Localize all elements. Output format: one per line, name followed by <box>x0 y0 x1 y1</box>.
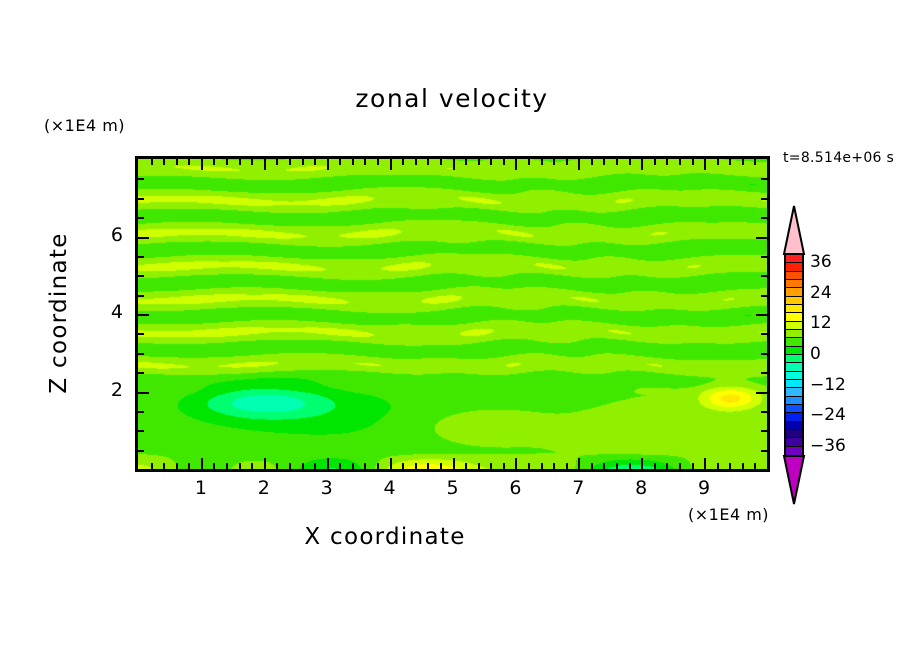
axis-tick <box>754 159 756 165</box>
axis-tick <box>239 159 241 165</box>
axis-tick <box>138 411 144 413</box>
colorbar-band <box>786 447 802 455</box>
colorbar-band <box>786 305 802 313</box>
axis-tick <box>327 458 329 469</box>
colorbar-tick-label: 0 <box>810 344 821 364</box>
axis-tick <box>276 463 278 469</box>
axis-tick <box>176 159 178 165</box>
colorbar-band <box>786 405 802 413</box>
y-tick-label: 4 <box>83 301 123 323</box>
axis-tick <box>756 392 767 394</box>
axis-tick <box>541 463 543 469</box>
axis-tick <box>201 159 203 170</box>
axis-tick <box>591 159 593 165</box>
axis-tick <box>679 159 681 165</box>
axis-tick <box>616 159 618 165</box>
axis-tick <box>761 430 767 432</box>
x-tick-label: 8 <box>621 477 661 499</box>
colorbar <box>780 205 808 505</box>
colorbar-band <box>786 413 802 421</box>
axis-tick <box>761 353 767 355</box>
axis-tick <box>314 463 316 469</box>
axis-tick <box>276 159 278 165</box>
axis-tick <box>761 450 767 452</box>
axis-tick <box>377 463 379 469</box>
axis-tick <box>761 333 767 335</box>
axis-tick <box>616 463 618 469</box>
colorbar-band <box>786 322 802 330</box>
axis-tick <box>704 159 706 170</box>
axis-tick <box>339 463 341 469</box>
y-axis-unit-label: (×1E4 m) <box>44 116 125 135</box>
axis-tick <box>138 430 144 432</box>
axis-tick <box>761 178 767 180</box>
axis-tick <box>553 159 555 165</box>
colorbar-band <box>786 388 802 396</box>
axis-tick <box>402 463 404 469</box>
colorbar-band <box>786 330 802 338</box>
axis-tick <box>761 198 767 200</box>
axis-tick <box>666 463 668 469</box>
axis-tick <box>352 463 354 469</box>
axis-tick <box>717 159 719 165</box>
axis-tick <box>742 463 744 469</box>
axis-tick <box>138 275 144 277</box>
colorbar-band <box>786 272 802 280</box>
colorbar-under-arrow-icon <box>780 455 808 505</box>
axis-tick <box>327 159 329 170</box>
axis-tick <box>138 314 149 316</box>
colorbar-band <box>786 347 802 355</box>
axis-tick <box>666 159 668 165</box>
colorbar-bands <box>784 253 804 457</box>
axis-tick <box>761 275 767 277</box>
axis-tick <box>226 159 228 165</box>
axis-tick <box>188 463 190 469</box>
axis-tick <box>138 256 144 258</box>
x-axis-title: X coordinate <box>0 524 770 550</box>
colorbar-band <box>786 263 802 271</box>
axis-tick <box>578 159 580 170</box>
y-tick-label: 6 <box>83 224 123 246</box>
axis-tick <box>654 463 656 469</box>
axis-tick <box>629 463 631 469</box>
colorbar-band <box>786 313 802 321</box>
x-tick-label: 9 <box>684 477 724 499</box>
axis-tick <box>440 159 442 165</box>
axis-tick <box>440 463 442 469</box>
axis-tick <box>201 458 203 469</box>
axis-tick <box>453 458 455 469</box>
axis-tick <box>289 159 291 165</box>
axis-tick <box>528 463 530 469</box>
x-tick-label: 5 <box>433 477 473 499</box>
axis-tick <box>138 450 144 452</box>
axis-tick <box>176 463 178 469</box>
axis-tick <box>264 458 266 469</box>
axis-tick <box>692 159 694 165</box>
axis-tick <box>566 159 568 165</box>
colorbar-band <box>786 422 802 430</box>
x-tick-label: 6 <box>495 477 535 499</box>
axis-tick <box>761 372 767 374</box>
colorbar-band <box>786 355 802 363</box>
axis-tick <box>729 463 731 469</box>
colorbar-tick-label: 12 <box>810 313 832 333</box>
axis-tick <box>151 159 153 165</box>
axis-tick <box>553 463 555 469</box>
x-tick-label: 1 <box>181 477 221 499</box>
axis-tick <box>729 159 731 165</box>
axis-tick <box>289 463 291 469</box>
axis-tick <box>138 333 144 335</box>
axis-tick <box>251 463 253 469</box>
axis-tick <box>390 458 392 469</box>
axis-tick <box>641 458 643 469</box>
axis-tick <box>478 159 480 165</box>
axis-tick <box>490 463 492 469</box>
axis-tick <box>364 159 366 165</box>
axis-tick <box>453 159 455 170</box>
axis-tick <box>566 463 568 469</box>
axis-tick <box>578 458 580 469</box>
colorbar-over-arrow-icon <box>780 205 808 255</box>
axis-tick <box>188 159 190 165</box>
colorbar-band <box>786 255 802 263</box>
y-tick-label: 2 <box>83 379 123 401</box>
axis-tick <box>515 159 517 170</box>
axis-tick <box>163 463 165 469</box>
axis-tick <box>239 463 241 469</box>
axis-tick <box>302 463 304 469</box>
axis-tick <box>213 159 215 165</box>
axis-tick <box>679 463 681 469</box>
axis-tick <box>465 463 467 469</box>
axis-tick <box>151 463 153 469</box>
x-tick-label: 7 <box>558 477 598 499</box>
axis-tick <box>302 159 304 165</box>
colorbar-band <box>786 338 802 346</box>
axis-tick <box>138 295 144 297</box>
axis-tick <box>603 159 605 165</box>
x-tick-label: 3 <box>307 477 347 499</box>
axis-tick <box>163 159 165 165</box>
axis-tick <box>641 159 643 170</box>
contour-field <box>138 159 767 469</box>
axis-tick <box>591 463 593 469</box>
colorbar-band <box>786 280 802 288</box>
axis-tick <box>427 159 429 165</box>
axis-tick <box>377 159 379 165</box>
colorbar-band <box>786 297 802 305</box>
colorbar-tick-label: −36 <box>810 436 846 456</box>
axis-tick <box>490 159 492 165</box>
axis-tick <box>528 159 530 165</box>
timestamp-label: t=8.514e+06 s <box>783 150 894 166</box>
axis-tick <box>427 463 429 469</box>
axis-tick <box>629 159 631 165</box>
colorbar-band <box>786 438 802 446</box>
axis-tick <box>402 159 404 165</box>
axis-tick <box>364 463 366 469</box>
colorbar-tick-label: −12 <box>810 375 846 395</box>
axis-tick <box>465 159 467 165</box>
colorbar-band <box>786 288 802 296</box>
x-tick-label: 4 <box>370 477 410 499</box>
colorbar-band <box>786 380 802 388</box>
x-axis-unit-label: (×1E4 m) <box>688 505 769 524</box>
axis-tick <box>515 458 517 469</box>
colorbar-band <box>786 372 802 380</box>
axis-tick <box>761 295 767 297</box>
axis-tick <box>761 256 767 258</box>
axis-tick <box>754 463 756 469</box>
axis-tick <box>478 463 480 469</box>
colorbar-tick-label: −24 <box>810 405 846 425</box>
axis-tick <box>742 159 744 165</box>
figure-canvas: zonal velocity (×1E4 m) (×1E4 m) t=8.514… <box>0 0 904 654</box>
page-title: zonal velocity <box>0 84 904 113</box>
axis-tick <box>717 463 719 469</box>
axis-tick <box>692 463 694 469</box>
axis-tick <box>761 411 767 413</box>
axis-tick <box>226 463 228 469</box>
axis-tick <box>390 159 392 170</box>
x-tick-label: 2 <box>244 477 284 499</box>
colorbar-band <box>786 363 802 371</box>
axis-tick <box>251 159 253 165</box>
axis-tick <box>541 159 543 165</box>
axis-tick <box>339 159 341 165</box>
axis-tick <box>138 237 149 239</box>
axis-tick <box>603 463 605 469</box>
colorbar-tick-label: 36 <box>810 252 832 272</box>
axis-tick <box>761 217 767 219</box>
axis-tick <box>264 159 266 170</box>
axis-tick <box>138 178 144 180</box>
colorbar-band <box>786 430 802 438</box>
axis-tick <box>503 159 505 165</box>
y-axis-title: Z coordinate <box>46 223 72 403</box>
contour-plot-area <box>135 156 770 472</box>
axis-tick <box>138 372 144 374</box>
axis-tick <box>138 353 144 355</box>
axis-tick <box>213 463 215 469</box>
axis-tick <box>314 159 316 165</box>
axis-tick <box>704 458 706 469</box>
colorbar-tick-label: 24 <box>810 283 832 303</box>
axis-tick <box>415 463 417 469</box>
colorbar-band <box>786 397 802 405</box>
axis-tick <box>756 314 767 316</box>
axis-tick <box>503 463 505 469</box>
axis-tick <box>138 198 144 200</box>
axis-tick <box>415 159 417 165</box>
axis-tick <box>352 159 354 165</box>
axis-tick <box>138 392 149 394</box>
axis-tick <box>756 237 767 239</box>
axis-tick <box>654 159 656 165</box>
axis-tick <box>138 217 144 219</box>
